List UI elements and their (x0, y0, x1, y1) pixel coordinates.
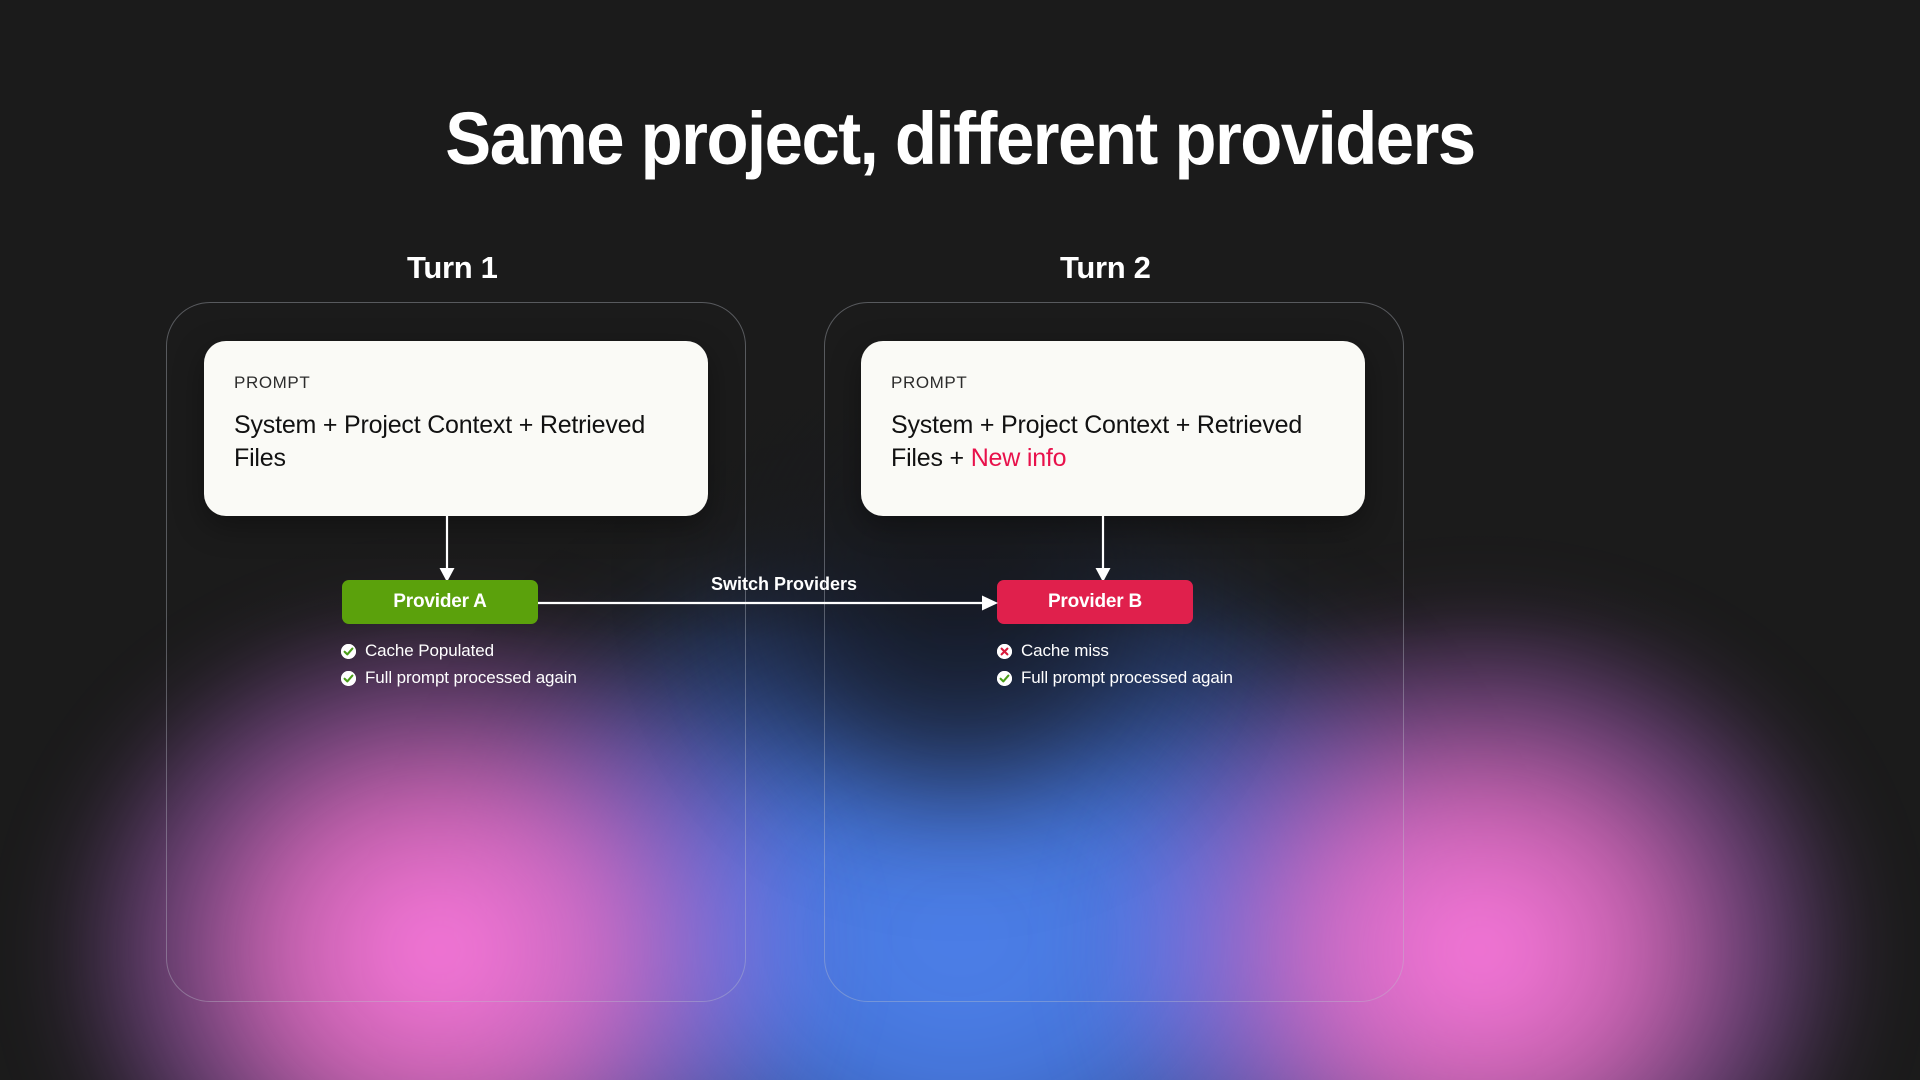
turn-1-heading: Turn 1 (407, 250, 498, 286)
prompt-kicker: PROMPT (891, 373, 1335, 393)
prompt-body-highlight: New info (971, 444, 1067, 472)
x-circle-icon (997, 644, 1012, 659)
check-circle-icon (997, 671, 1012, 686)
turn-1-status-list: Cache Populated Full prompt processed ag… (341, 641, 577, 695)
prompt-body: System + Project Context + Retrieved Fil… (891, 409, 1335, 476)
slide-canvas: Same project, different providers Turn 1… (0, 0, 1920, 1080)
check-circle-icon (341, 644, 356, 659)
status-item: Full prompt processed again (997, 668, 1233, 688)
arrow-down-turn-2 (1091, 516, 1115, 589)
turn-1-prompt-card: PROMPT System + Project Context + Retrie… (204, 341, 708, 516)
turn-2-prompt-card: PROMPT System + Project Context + Retrie… (861, 341, 1365, 516)
turn-2-heading: Turn 2 (1060, 250, 1151, 286)
turn-2-status-list: Cache miss Full prompt processed again (997, 641, 1233, 695)
provider-a-label: Provider A (393, 591, 486, 613)
provider-a-chip[interactable]: Provider A (342, 580, 538, 624)
status-label: Cache miss (1021, 641, 1109, 661)
arrow-down-turn-1 (435, 516, 459, 589)
provider-b-chip[interactable]: Provider B (997, 580, 1193, 624)
prompt-kicker: PROMPT (234, 373, 678, 393)
prompt-body-main: System + Project Context + Retrieved Fil… (891, 411, 1302, 472)
status-item: Full prompt processed again (341, 668, 577, 688)
status-label: Full prompt processed again (365, 668, 577, 688)
page-title: Same project, different providers (67, 96, 1853, 181)
provider-b-label: Provider B (1048, 591, 1142, 613)
prompt-body-main: System + Project Context + Retrieved Fil… (234, 411, 645, 472)
arrow-right-switch-providers (538, 592, 1000, 619)
status-label: Full prompt processed again (1021, 668, 1233, 688)
status-item: Cache miss (997, 641, 1233, 661)
status-label: Cache Populated (365, 641, 494, 661)
check-circle-icon (341, 671, 356, 686)
status-item: Cache Populated (341, 641, 577, 661)
prompt-body: System + Project Context + Retrieved Fil… (234, 409, 678, 476)
